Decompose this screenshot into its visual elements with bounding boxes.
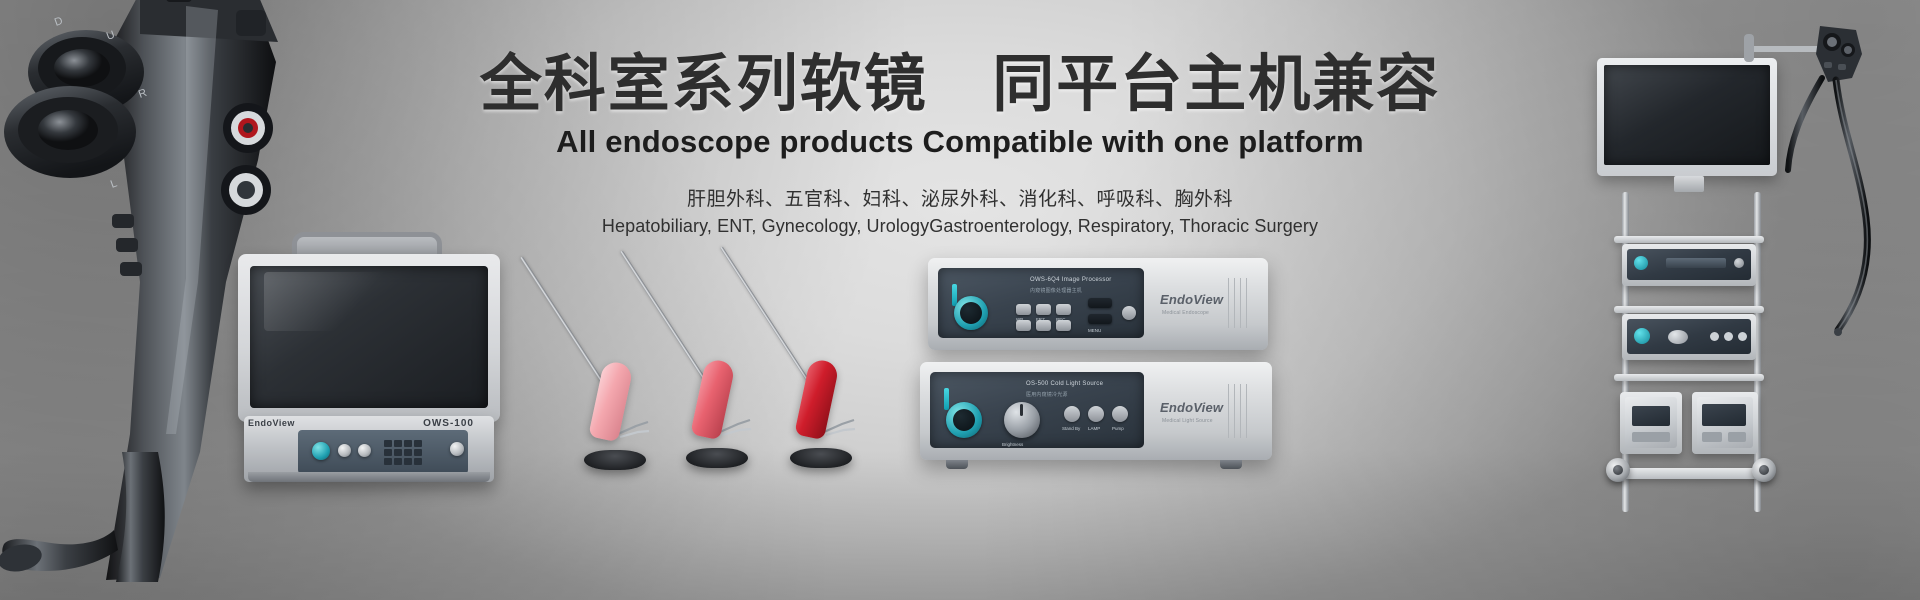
- headline-part-2: 同平台主机兼容: [992, 50, 1440, 119]
- lightsource-label-lamp: LAMP: [1088, 426, 1100, 431]
- processor-brand: EndoView: [1160, 292, 1223, 307]
- svg-text:D: D: [53, 15, 65, 29]
- processor-button-power[interactable]: [1122, 306, 1136, 320]
- lightsource-brand: EndoView: [1160, 400, 1223, 415]
- cart-unit-mid-port[interactable]: [1634, 328, 1650, 344]
- cart-unit-top-display: [1666, 258, 1726, 268]
- cart-shelf-low: [1614, 374, 1764, 381]
- processor-vent: [1234, 278, 1235, 328]
- lower-left-screen: [1632, 406, 1670, 426]
- processor-button-wb[interactable]: [1016, 304, 1031, 315]
- cart-unit-mid-btn-a[interactable]: [1710, 332, 1719, 341]
- banner-text-block: 全科室系列软镜 同平台主机兼容 All endoscope products C…: [0, 52, 1920, 237]
- processor-button-rec[interactable]: [1056, 304, 1071, 315]
- instrument-stand-base: [790, 448, 852, 468]
- instrument-shaft: [520, 256, 610, 392]
- processor-button-frz[interactable]: [1036, 304, 1051, 315]
- processor-vent: [1228, 278, 1229, 328]
- laparoscopic-instrument-red: [712, 248, 867, 493]
- lightsource-label-standby: Stand By: [1062, 426, 1080, 431]
- processor-title-cn: 内窥镜图像处理器主机: [1030, 287, 1082, 294]
- console-vent-grill: [252, 450, 264, 466]
- cart-caster-left: [1606, 458, 1630, 482]
- console-foot: [248, 472, 490, 482]
- lightsource-title-en: OS-500 Cold Light Source: [1026, 381, 1103, 387]
- departments-english: Hepatobiliary, ENT, Gynecology, UrologyG…: [0, 216, 1920, 237]
- lightsource-front-panel: OS-500 Cold Light Source 医用内窥镜冷光源 Bright…: [930, 372, 1144, 448]
- processor-label-wb: WB: [1016, 317, 1023, 322]
- lower-right-btn[interactable]: [1702, 432, 1722, 442]
- lightsource-dial-label: Brightness: [1002, 442, 1023, 447]
- console-brand-label: EndoView: [248, 418, 295, 428]
- console-knob-c[interactable]: [450, 442, 464, 456]
- instrument-shaft: [620, 250, 712, 390]
- processor-vent: [1246, 278, 1247, 328]
- subheadline: All endoscope products Compatible with o…: [0, 124, 1920, 160]
- console-keypad[interactable]: [384, 440, 422, 465]
- lightsource-button-standby[interactable]: [1064, 406, 1080, 422]
- headline: 全科室系列软镜 同平台主机兼容: [0, 52, 1920, 118]
- cart-shelf-base: [1610, 468, 1770, 479]
- processor-label-rec: REC: [1056, 317, 1066, 322]
- lightsource-accent-bar: [944, 388, 949, 410]
- processor-title-en: OWS-6Q4 Image Processor: [1030, 277, 1112, 283]
- processor-port-hdmi[interactable]: [1088, 314, 1112, 324]
- console-screen: [250, 266, 488, 408]
- console-display-body: [238, 254, 500, 422]
- cart-unit-mid-dial[interactable]: [1668, 330, 1688, 344]
- lower-left-tray: [1632, 432, 1670, 442]
- lightsource-label-pump: Pump: [1112, 426, 1124, 431]
- socket-bore: [960, 302, 982, 324]
- lower-right-btn-2[interactable]: [1728, 432, 1746, 442]
- headline-part-1: 全科室系列软镜: [480, 50, 928, 119]
- lightsource-button-lamp[interactable]: [1088, 406, 1104, 422]
- cart-unit-lower-left: [1620, 392, 1682, 454]
- lightsource-button-pump[interactable]: [1112, 406, 1128, 422]
- cart-caster-right: [1752, 458, 1776, 482]
- lightsource-brand-sub: Medical Light Source: [1162, 418, 1213, 424]
- fiber-port-bore: [953, 409, 975, 431]
- console-knob-a[interactable]: [338, 444, 351, 457]
- cart-unit-top-port[interactable]: [1634, 256, 1648, 270]
- processor-port-usb[interactable]: [1088, 298, 1112, 308]
- processor-brand-sub: Medical Endoscope: [1162, 310, 1209, 316]
- lightsource-vent: [1246, 384, 1247, 438]
- cart-unit-lower-right: [1692, 392, 1758, 454]
- departments-chinese: 肝胆外科、五官科、妇科、泌尿外科、消化科、呼吸科、胸外科: [0, 184, 1920, 211]
- processor-vent: [1240, 278, 1241, 328]
- processor-label-frz: FRZ: [1036, 317, 1045, 322]
- endoview-cold-light-source: OS-500 Cold Light Source 医用内窥镜冷光源 Bright…: [920, 362, 1272, 460]
- lightsource-vent: [1240, 384, 1241, 438]
- endoview-image-processor: OWS-6Q4 Image Processor 内窥镜图像处理器主机 WB FR…: [928, 258, 1268, 350]
- console-knob-b[interactable]: [358, 444, 371, 457]
- lower-right-screen: [1702, 404, 1746, 426]
- processor-label-menu: MENU: [1088, 328, 1101, 333]
- ows-monitor-console: EndoView OWS-100: [238, 232, 500, 482]
- console-model-label: OWS-100: [423, 418, 474, 429]
- instrument-shaft: [720, 246, 815, 390]
- lightsource-title-cn: 医用内窥镜冷光源: [1026, 391, 1068, 398]
- screen-glare: [264, 272, 388, 332]
- lightsource-foot: [1220, 460, 1242, 469]
- product-banner: U D R L: [0, 0, 1920, 600]
- processor-front-panel: OWS-6Q4 Image Processor 内窥镜图像处理器主机 WB FR…: [938, 268, 1144, 338]
- console-power-knob[interactable]: [312, 442, 330, 460]
- lightsource-vent: [1228, 384, 1229, 438]
- lightsource-foot: [946, 460, 968, 469]
- lightsource-vent: [1234, 384, 1235, 438]
- dial-indicator: [1020, 404, 1023, 416]
